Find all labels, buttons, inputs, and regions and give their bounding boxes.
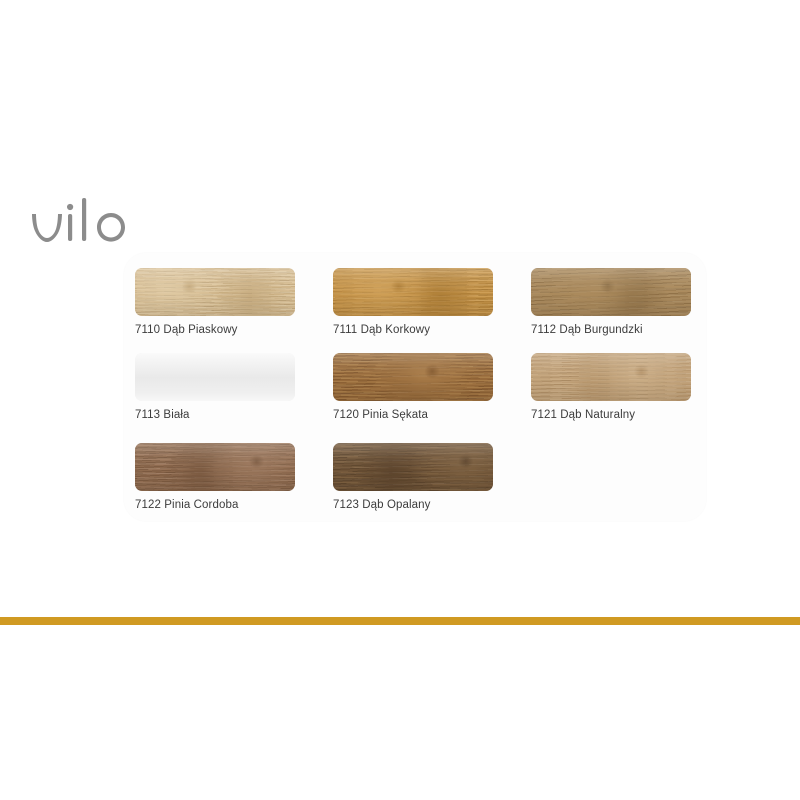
wood-swatch-icon[interactable] bbox=[333, 353, 493, 401]
swatch-sheen bbox=[333, 443, 493, 491]
wood-swatch-icon[interactable] bbox=[135, 443, 295, 491]
wood-swatch-icon[interactable] bbox=[135, 268, 295, 316]
swatch-sheen bbox=[531, 353, 691, 401]
swatch-sheen bbox=[333, 268, 493, 316]
swatch-sheen bbox=[531, 268, 691, 316]
swatch-label-7120: 7120 Pinia Sękata bbox=[333, 409, 493, 421]
swatch-cell-7113[interactable]: 7113 Biała bbox=[135, 353, 295, 421]
swatch-cell-7120[interactable]: 7120 Pinia Sękata bbox=[333, 353, 493, 421]
white-swatch-icon[interactable] bbox=[135, 353, 295, 401]
swatch-label-7123: 7123 Dąb Opalany bbox=[333, 499, 493, 511]
swatch-label-7110: 7110 Dąb Piaskowy bbox=[135, 324, 295, 336]
swatch-cell-7121[interactable]: 7121 Dąb Naturalny bbox=[531, 353, 691, 421]
swatch-cell-7110[interactable]: 7110 Dąb Piaskowy bbox=[135, 268, 295, 336]
swatch-sheen bbox=[135, 353, 295, 401]
swatch-label-7113: 7113 Biała bbox=[135, 409, 295, 421]
swatch-label-7111: 7111 Dąb Korkowy bbox=[333, 324, 493, 336]
swatch-cell-7111[interactable]: 7111 Dąb Korkowy bbox=[333, 268, 493, 336]
gold-divider bbox=[0, 617, 800, 625]
colour-swatch-panel: 7110 Dąb Piaskowy7111 Dąb Korkowy7112 Dą… bbox=[124, 253, 706, 521]
swatch-label-7121: 7121 Dąb Naturalny bbox=[531, 409, 691, 421]
swatch-sheen bbox=[135, 443, 295, 491]
swatch-sheen bbox=[333, 353, 493, 401]
wood-swatch-icon[interactable] bbox=[531, 268, 691, 316]
swatch-cell-7122[interactable]: 7122 Pinia Cordoba bbox=[135, 443, 295, 511]
swatch-cell-7112[interactable]: 7112 Dąb Burgundzki bbox=[531, 268, 691, 336]
swatch-cell-7123[interactable]: 7123 Dąb Opalany bbox=[333, 443, 493, 511]
wood-swatch-icon[interactable] bbox=[333, 443, 493, 491]
wood-swatch-icon[interactable] bbox=[333, 268, 493, 316]
swatch-grid: 7110 Dąb Piaskowy7111 Dąb Korkowy7112 Dą… bbox=[124, 253, 706, 521]
swatch-label-7122: 7122 Pinia Cordoba bbox=[135, 499, 295, 511]
vilo-wordmark-logo bbox=[28, 196, 178, 252]
wood-swatch-icon[interactable] bbox=[531, 353, 691, 401]
swatch-label-7112: 7112 Dąb Burgundzki bbox=[531, 324, 691, 336]
swatch-sheen bbox=[135, 268, 295, 316]
